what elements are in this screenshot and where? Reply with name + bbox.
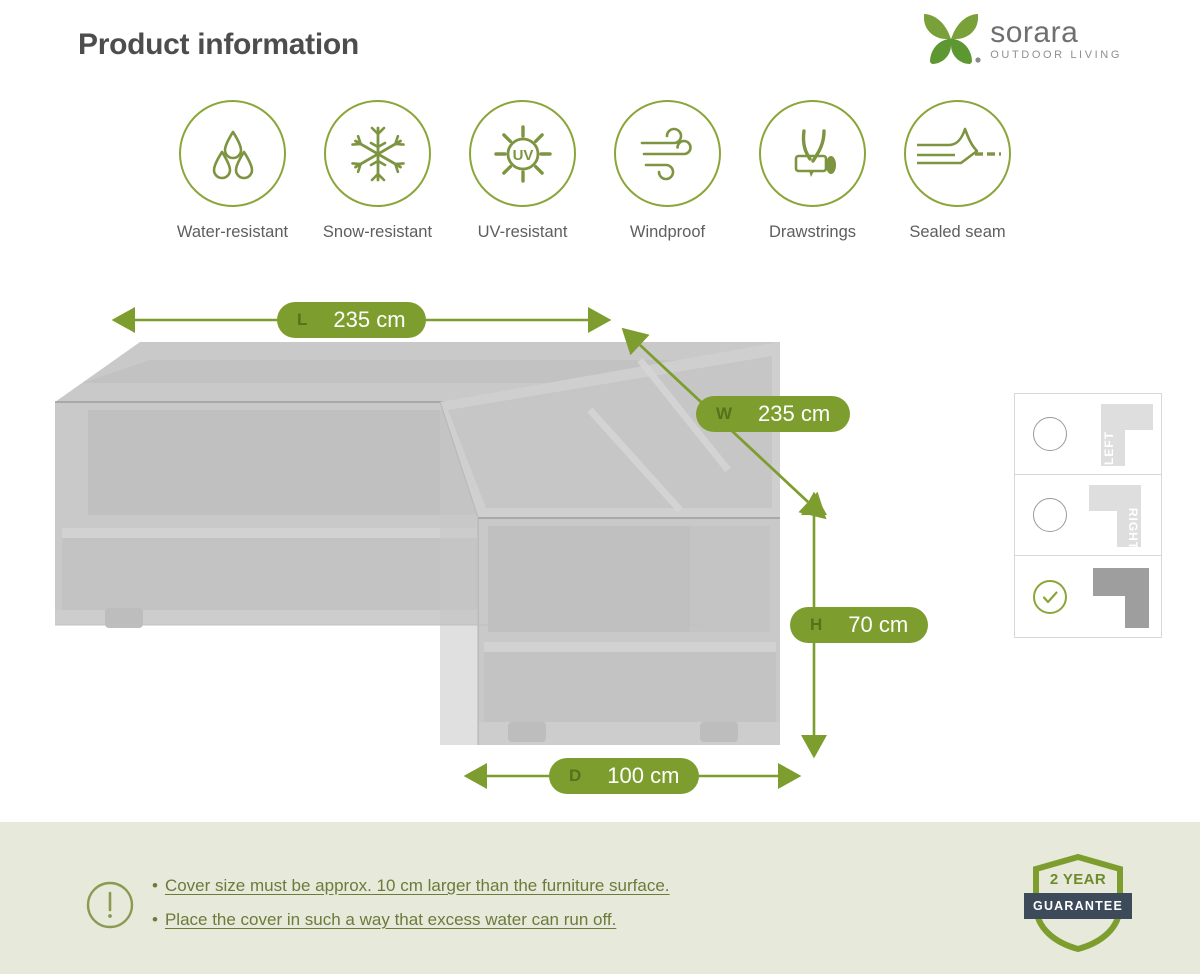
brand-tagline: OUTDOOR LIVING — [990, 50, 1122, 61]
feature-sealed-seam: Sealed seam — [885, 100, 1030, 242]
orientation-label: LEFT — [1102, 431, 1116, 465]
note-item: • Cover size must be approx. 10 cm large… — [152, 876, 670, 896]
note-text: Place the cover in such a way that exces… — [165, 910, 616, 930]
feature-snow-resistant: Snow-resistant — [305, 100, 450, 242]
note-item: • Place the cover in such a way that exc… — [152, 910, 670, 930]
feature-circle — [324, 100, 431, 207]
feature-label: UV-resistant — [478, 223, 568, 242]
radio-unchecked-icon[interactable] — [1033, 417, 1067, 451]
uv-text: UV — [512, 147, 533, 164]
brand-logo: sorara OUTDOOR LIVING — [920, 12, 1122, 66]
feature-label: Windproof — [630, 223, 705, 242]
sofa-cover-shape — [55, 342, 780, 745]
note-bullet: • — [152, 877, 158, 894]
dimension-value: 70 cm — [848, 612, 908, 638]
drawstring-toggle-icon — [784, 123, 842, 185]
dimension-pill-length: L 235 cm — [277, 302, 426, 338]
dimension-pill-width: W 235 cm — [696, 396, 850, 432]
l-shape-selected-icon — [1085, 562, 1157, 637]
snowflake-icon — [347, 123, 409, 185]
exclamation-circle-icon — [85, 880, 135, 935]
product-illustration: L 235 cm W 235 cm H 70 cm D 100 cm — [0, 270, 1000, 815]
sealed-seam-icon — [915, 123, 1001, 185]
water-drops-icon — [203, 124, 263, 184]
dimension-pill-depth: D 100 cm — [549, 758, 699, 794]
feature-water-resistant: Water-resistant — [160, 100, 305, 242]
feature-circle — [614, 100, 721, 207]
note-text: Cover size must be approx. 10 cm larger … — [165, 876, 670, 896]
orientation-option-selected[interactable] — [1015, 556, 1161, 637]
dimension-key: D — [569, 766, 581, 786]
feature-uv-resistant: UV UV-resistant — [450, 100, 595, 242]
dimension-value: 100 cm — [607, 763, 679, 789]
dimension-value: 235 cm — [758, 401, 830, 427]
orientation-label: RIGHT — [1126, 508, 1140, 550]
feature-label: Sealed seam — [909, 223, 1005, 242]
butterfly-logo-icon — [920, 12, 982, 66]
dimension-key: H — [810, 615, 822, 635]
feature-label: Water-resistant — [177, 223, 288, 242]
dimension-value: 235 cm — [333, 307, 405, 333]
uv-sun-icon: UV — [492, 123, 554, 185]
notes-list: • Cover size must be approx. 10 cm large… — [152, 876, 670, 944]
feature-circle — [759, 100, 866, 207]
orientation-selector[interactable]: LEFT RIGHT — [1014, 393, 1162, 638]
feature-circle — [179, 100, 286, 207]
feature-circle — [904, 100, 1011, 207]
l-shape-right-icon: RIGHT — [1085, 481, 1157, 556]
feature-drawstrings: Drawstrings — [740, 100, 885, 242]
radio-unchecked-icon[interactable] — [1033, 498, 1067, 532]
radio-checked-icon[interactable] — [1033, 580, 1067, 614]
wind-icon — [636, 125, 700, 183]
dimension-key: L — [297, 310, 307, 330]
guarantee-badge: 2 YEAR GUARANTEE — [1030, 853, 1126, 958]
page-title: Product information — [78, 28, 359, 62]
guarantee-years: 2 YEAR — [1030, 871, 1126, 888]
feature-label: Drawstrings — [769, 223, 856, 242]
orientation-option-right[interactable]: RIGHT — [1015, 475, 1161, 556]
l-shape-left-icon: LEFT — [1085, 400, 1157, 475]
feature-circle: UV — [469, 100, 576, 207]
feature-windproof: Windproof — [595, 100, 740, 242]
feature-label: Snow-resistant — [323, 223, 432, 242]
guarantee-banner: GUARANTEE — [1024, 893, 1132, 919]
brand-name: sorara — [990, 18, 1122, 48]
dimension-pill-height: H 70 cm — [790, 607, 928, 643]
guarantee-word: GUARANTEE — [1033, 899, 1123, 913]
note-bullet: • — [152, 911, 158, 928]
orientation-option-left[interactable]: LEFT — [1015, 394, 1161, 475]
dimension-key: W — [716, 404, 732, 424]
feature-list: Water-resistant — [160, 100, 1030, 242]
